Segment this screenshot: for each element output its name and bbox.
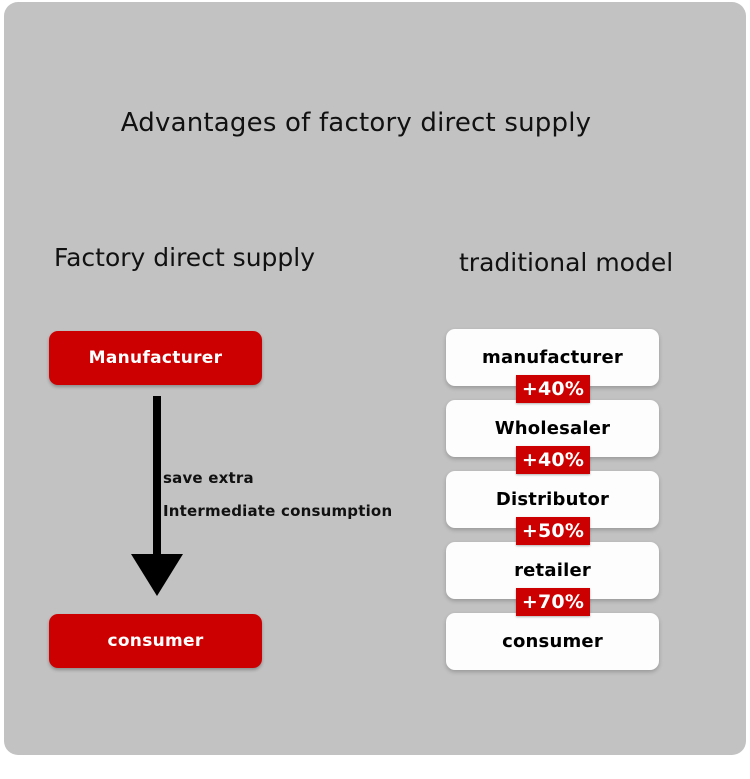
chain-node-consumer[interactable]: consumer bbox=[446, 613, 659, 670]
chain-node-consumer-label: consumer bbox=[502, 631, 603, 652]
slide-canvas: Advantages of factory direct supply Fact… bbox=[0, 0, 750, 779]
markup-badge-1-label: +40% bbox=[522, 378, 584, 400]
direct-node-manufacturer[interactable]: Manufacturer bbox=[49, 331, 262, 385]
chain-node-retailer-label: retailer bbox=[514, 560, 591, 581]
markup-badge-1: +40% bbox=[516, 375, 590, 403]
traditional-chain: manufacturer +40% Wholesaler +40% Distri… bbox=[446, 329, 659, 671]
direct-node-manufacturer-label: Manufacturer bbox=[89, 348, 223, 368]
direct-node-consumer[interactable]: consumer bbox=[49, 614, 262, 668]
markup-badge-2-label: +40% bbox=[522, 449, 584, 471]
chain-node-manufacturer-label: manufacturer bbox=[482, 347, 623, 368]
markup-badge-4: +70% bbox=[516, 588, 590, 616]
chain-node-wholesaler-label: Wholesaler bbox=[495, 418, 611, 439]
savings-caption-line-1: save extra bbox=[163, 462, 423, 495]
column-header-factory-direct-supply: Factory direct supply bbox=[54, 243, 315, 272]
markup-badge-2: +40% bbox=[516, 446, 590, 474]
markup-badge-3: +50% bbox=[516, 517, 590, 545]
direct-node-consumer-label: consumer bbox=[107, 631, 203, 651]
chain-node-distributor-label: Distributor bbox=[496, 489, 609, 510]
column-header-traditional-model: traditional model bbox=[459, 248, 673, 277]
savings-caption-line-2: Intermediate consumption bbox=[163, 495, 423, 528]
markup-badge-4-label: +70% bbox=[522, 591, 584, 613]
markup-badge-3-label: +50% bbox=[522, 520, 584, 542]
savings-caption: save extra Intermediate consumption bbox=[163, 462, 423, 528]
page-title: Advantages of factory direct supply bbox=[0, 108, 712, 138]
